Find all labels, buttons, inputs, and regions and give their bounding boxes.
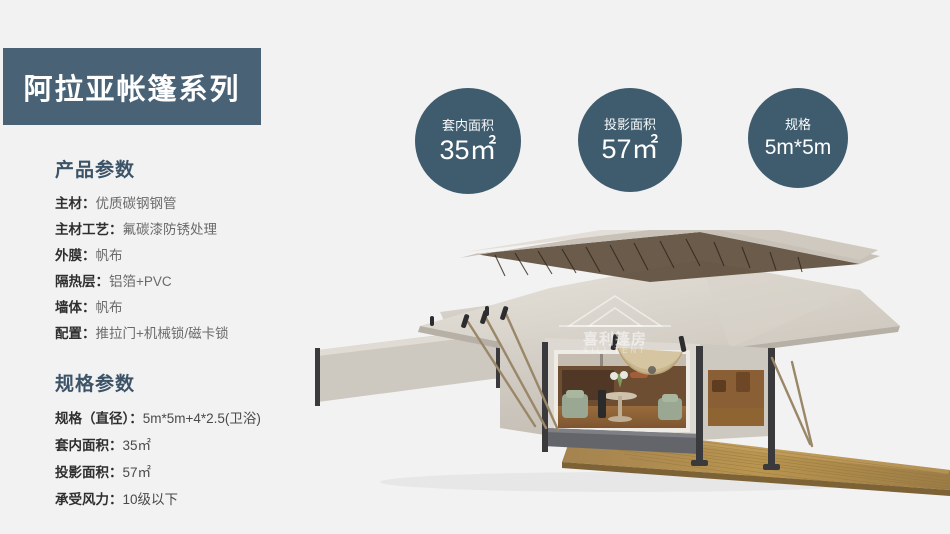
- badge-projected-area: 投影面积 57㎡: [578, 88, 682, 192]
- post-right-outer: [768, 348, 775, 468]
- spec-value: 10级以下: [123, 492, 179, 507]
- upper-pyramid-roof: [460, 230, 880, 282]
- param-label: 主材工艺：: [55, 222, 123, 237]
- spec-label: 投影面积：: [55, 465, 123, 480]
- badge-dimensions: 规格 5m*5m: [748, 88, 848, 188]
- param-label: 外膜：: [55, 248, 96, 263]
- spec-value: 57㎡: [123, 465, 152, 480]
- badge-value: 35㎡: [439, 137, 496, 164]
- spec-label: 规格（直径）：: [55, 411, 143, 426]
- badge-label: 规格: [785, 118, 811, 131]
- badge-label: 套内面积: [442, 119, 494, 132]
- badge-interior-area: 套内面积 35㎡: [415, 88, 521, 194]
- param-label: 隔热层：: [55, 274, 109, 289]
- param-value: 推拉门+机械锁/磁卡锁: [96, 326, 229, 341]
- badge-value: 57㎡: [601, 136, 658, 163]
- badge-label: 投影面积: [604, 118, 656, 131]
- spec-value: 35㎡: [123, 438, 152, 453]
- param-value: 帆布: [96, 300, 123, 315]
- page-root: 阿拉亚帐篷系列 产品参数 主材：优质碳钢钢管 主材工艺：氟碳漆防锈处理 外膜：帆…: [0, 0, 950, 534]
- post-center-right: [696, 346, 703, 464]
- product-params-heading: 产品参数: [55, 155, 355, 182]
- param-value: 优质碳钢钢管: [96, 196, 177, 211]
- post-foot-right: [763, 464, 780, 470]
- spec-label: 套内面积：: [55, 438, 123, 453]
- post-foot-center: [691, 460, 708, 466]
- spec-label: 承受风力：: [55, 492, 123, 507]
- page-title: 阿拉亚帐篷系列: [23, 66, 240, 108]
- param-label: 主材：: [55, 196, 96, 211]
- title-banner: 阿拉亚帐篷系列: [3, 48, 261, 125]
- param-value: 铝箔+PVC: [109, 274, 172, 289]
- param-value: 氟碳漆防锈处理: [123, 222, 218, 237]
- param-label: 墙体：: [55, 300, 96, 315]
- tent-illustration: [300, 230, 950, 510]
- right-body: [700, 344, 770, 440]
- tent-render-svg: [300, 230, 950, 510]
- param-value: 帆布: [96, 248, 123, 263]
- wing-post-left: [315, 348, 320, 406]
- param-label: 配置：: [55, 326, 96, 341]
- spec-value: 5m*5m+4*2.5(卫浴): [143, 411, 261, 426]
- badge-value: 5m*5m: [765, 137, 832, 158]
- param-row: 主材：优质碳钢钢管: [55, 191, 355, 217]
